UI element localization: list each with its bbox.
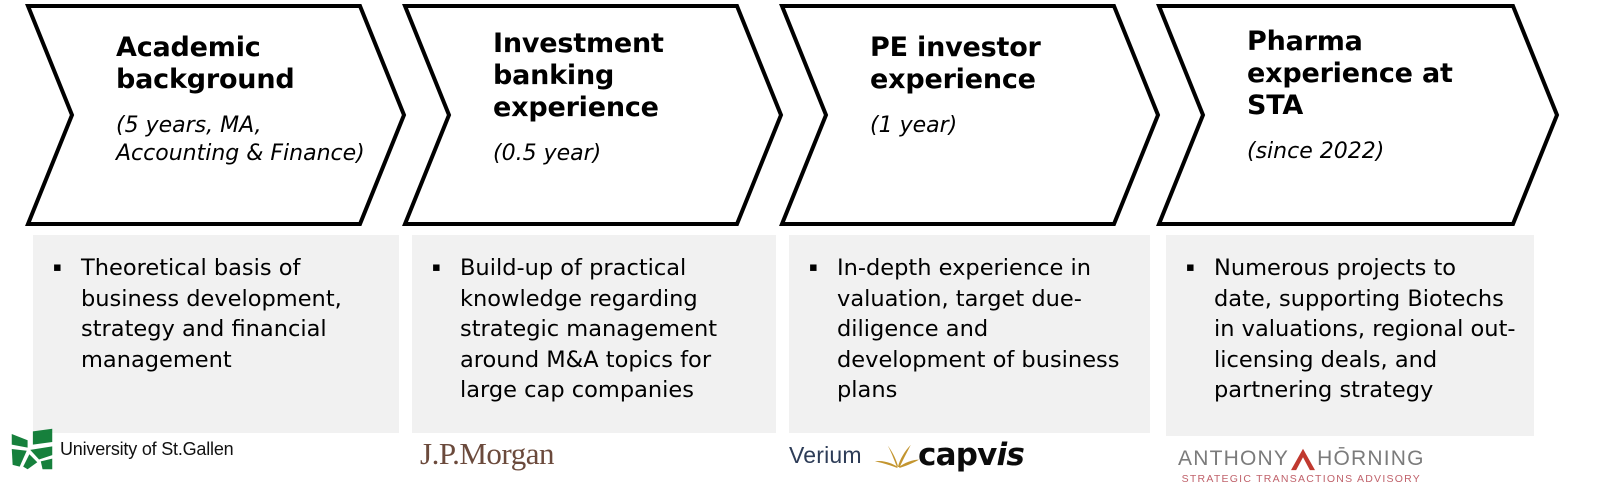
chevron-duration-1: (5 years, MA, Accounting & Finance) — [116, 112, 366, 167]
st-gallen-mark-icon — [10, 427, 54, 471]
chevron-title-2: Investment banking experience — [493, 28, 743, 124]
bullet-item-1: ▪ Theoretical basis of business developm… — [47, 253, 385, 375]
detail-box-3[interactable]: ▪ In-depth experience in valuation, targ… — [789, 235, 1150, 433]
chevron-stage-4[interactable]: Pharma experience at STA (since 2022) — [1159, 4, 1559, 226]
st-gallen-wordmark: University of St.Gallen — [60, 439, 233, 460]
chevron-stage-2[interactable]: Investment banking experience (0.5 year) — [405, 4, 783, 226]
bullet-item-4: ▪ Numerous projects to date, supporting … — [1180, 253, 1520, 406]
bullet-marker-icon-3: ▪ — [803, 253, 837, 283]
bullet-item-3: ▪ In-depth experience in valuation, targ… — [803, 253, 1136, 406]
logo-university-of-st-gallen[interactable]: University of St.Gallen — [10, 427, 233, 471]
logo-verium[interactable]: Verium — [789, 440, 920, 470]
chevron-duration-3: (1 year) — [870, 112, 1120, 140]
chevron-duration-4: (since 2022) — [1247, 138, 1519, 166]
anthony-horning-word-right: HŌRNING — [1317, 447, 1425, 471]
chevron-text-block-4: Pharma experience at STA (since 2022) — [1247, 26, 1519, 166]
chevron-title-1: Academic background — [116, 32, 366, 96]
chevron-text-block-1: Academic background (5 years, MA, Accoun… — [116, 32, 366, 167]
bullet-text-1: Theoretical basis of business developmen… — [81, 253, 385, 375]
bullet-item-2: ▪ Build-up of practical knowledge regard… — [426, 253, 762, 406]
chevron-text-block-2: Investment banking experience (0.5 year) — [493, 28, 743, 168]
bullet-text-2: Build-up of practical knowledge regardin… — [460, 253, 762, 406]
chevron-title-3: PE investor experience — [870, 32, 1120, 96]
detail-box-1[interactable]: ▪ Theoretical basis of business developm… — [33, 235, 399, 433]
bullet-marker-icon-2: ▪ — [426, 253, 460, 283]
anthony-horning-chevron-icon — [1290, 447, 1316, 471]
chevron-title-4: Pharma experience at STA — [1247, 26, 1519, 122]
bullet-marker-icon-4: ▪ — [1180, 253, 1214, 283]
jp-morgan-wordmark: J.P.Morgan — [420, 436, 554, 472]
verium-wordmark: Verium — [789, 442, 862, 469]
logo-jp-morgan[interactable]: J.P.Morgan — [420, 436, 554, 472]
logo-capvis[interactable]: capvis — [918, 437, 1024, 473]
detail-box-2[interactable]: ▪ Build-up of practical knowledge regard… — [412, 235, 776, 433]
logo-anthony-horning[interactable]: ANTHONY HŌRNING STRATEGIC TRANSACTIONS A… — [1178, 447, 1425, 485]
chevron-stage-3[interactable]: PE investor experience (1 year) — [782, 4, 1160, 226]
capvis-wordmark-italic: is — [997, 437, 1024, 473]
bullet-text-3: In-depth experience in valuation, target… — [837, 253, 1136, 406]
verium-leaf-icon — [874, 440, 920, 470]
anthony-horning-wordmark: ANTHONY HŌRNING — [1178, 447, 1425, 471]
detail-box-4[interactable]: ▪ Numerous projects to date, supporting … — [1166, 235, 1534, 436]
capvis-wordmark: capvis — [918, 437, 1024, 473]
capvis-wordmark-bold: capv — [918, 437, 997, 473]
anthony-horning-word-left: ANTHONY — [1178, 447, 1289, 471]
career-stage-chevron-row: Academic background (5 years, MA, Accoun… — [0, 0, 1600, 228]
chevron-stage-1[interactable]: Academic background (5 years, MA, Accoun… — [28, 4, 406, 226]
bullet-marker-icon-1: ▪ — [47, 253, 81, 283]
chevron-duration-2: (0.5 year) — [493, 140, 743, 168]
bullet-text-4: Numerous projects to date, supporting Bi… — [1214, 253, 1520, 406]
anthony-horning-tagline: STRATEGIC TRANSACTIONS ADVISORY — [1178, 473, 1425, 485]
chevron-text-block-3: PE investor experience (1 year) — [870, 32, 1120, 140]
